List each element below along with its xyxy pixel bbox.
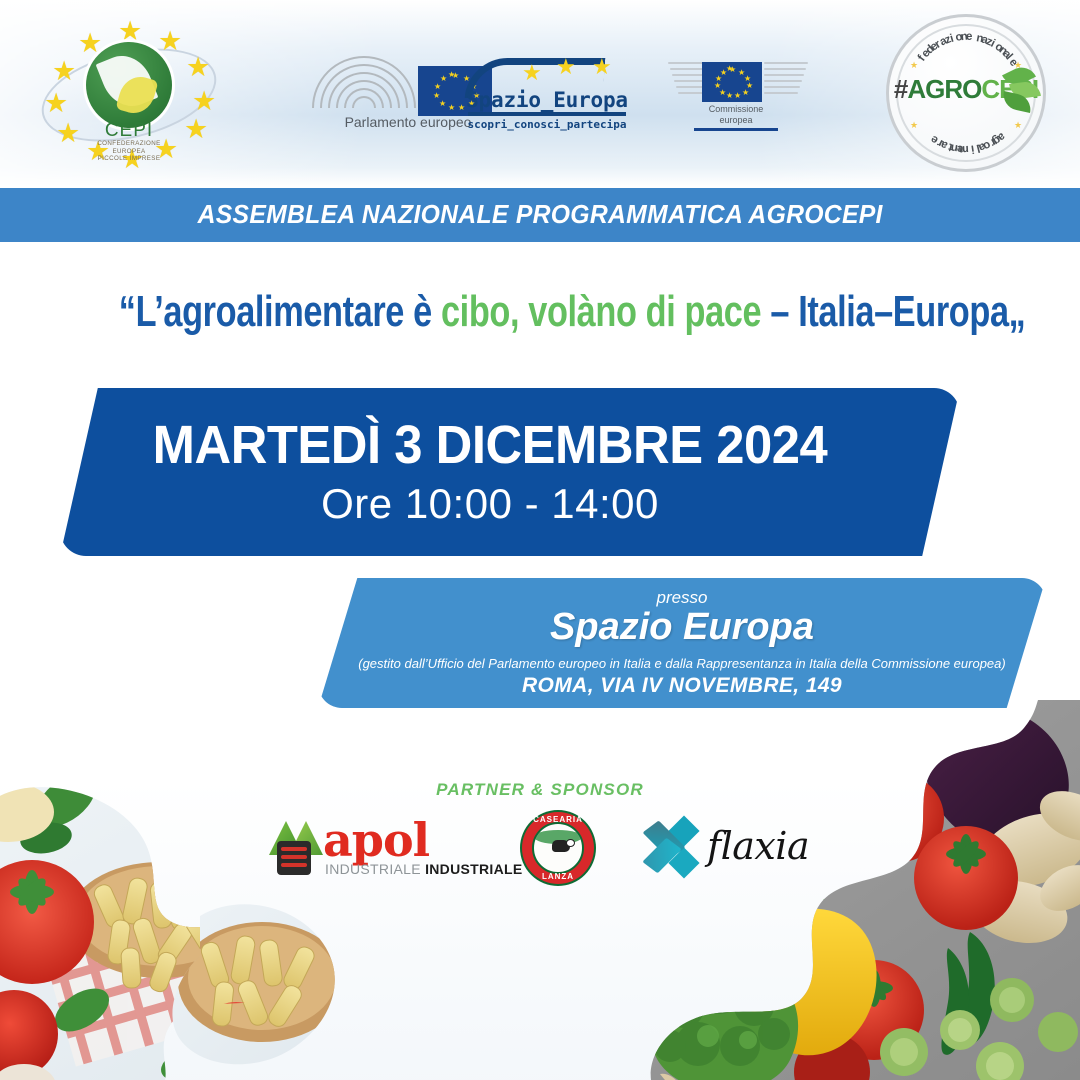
assembly-title-banner: ASSEMBLEA NAZIONALE PROGRAMMATICA AGROCE… [0, 188, 1080, 242]
logo-row: ★ ★ ★ ★ ★ ★ ★ ★ ★ ★ ★ ★ CEPI CONFEDERAZI… [0, 0, 1080, 186]
cepi-subtitle-line-2: EUROPEA [112, 148, 145, 155]
agrocepi-hash: # [894, 74, 907, 104]
commission-caption: Commissione europea [694, 104, 778, 126]
tagline-close-quote: „ [1009, 287, 1026, 336]
venue-name: Spazio Europa [318, 606, 1046, 649]
lanza-scene-icon [532, 822, 584, 874]
event-date: MARTEDÌ 3 DICEMBRE 2024 [86, 414, 894, 476]
flaxia-wordmark: flaxia [707, 824, 809, 868]
sponsor-logo-apol[interactable]: apol INDUSTRIALE INDUSTRIALE [265, 815, 473, 881]
event-venue-block: presso Spazio Europa (gestito dall’Uffic… [318, 578, 1046, 708]
apol-mark-icon [265, 819, 325, 875]
assembly-title: ASSEMBLEA NAZIONALE PROGRAMMATICA AGROCE… [197, 201, 882, 230]
sponsor-logo-flaxia[interactable]: flaxia [643, 816, 815, 880]
lanza-bottom-text: LANZA [522, 872, 594, 881]
spazio-tagline: scopri_conosci_partecipa [462, 118, 632, 131]
event-date-block: MARTEDÌ 3 DICEMBRE 2024 Ore 10:00 - 14:0… [60, 388, 960, 556]
spazio-europa-logo: ★ ★ ★ Spazio_Europa scopri_conosci_parte… [462, 52, 632, 138]
spazio-title: Spazio_Europa [462, 88, 632, 112]
flaxia-x-icon [643, 820, 701, 876]
tagline-open-quote: “ [119, 287, 136, 336]
cepi-subtitle-line-3: PICCOLE IMPRESE [98, 155, 161, 162]
lanza-top-text: CASEARIA [522, 815, 594, 824]
apol-subtitle: INDUSTRIALE INDUSTRIALE [325, 861, 522, 877]
sponsor-logos: apol INDUSTRIALE INDUSTRIALE CASEARIA LA… [265, 808, 815, 888]
commission-underline [694, 128, 778, 131]
agrocepi-logo: federazione nazionale agroalimentare ★ ★… [886, 14, 1046, 172]
tagline-part-1: L’agroalimentare è [136, 287, 441, 336]
tagline-part-3: – Italia–Europa [761, 287, 1008, 336]
event-poster: ★ ★ ★ ★ ★ ★ ★ ★ ★ ★ ★ ★ CEPI CONFEDERAZI… [0, 0, 1080, 1080]
apol-wordmark: apol [323, 813, 429, 867]
event-time: Ore 10:00 - 14:00 [60, 480, 920, 528]
cepi-subtitle-line-1: CONFEDERAZIONE [97, 140, 160, 147]
eu-flag-icon: ★ ★ ★ ★ ★ ★ ★ ★ ★ ★ ★ ★ [702, 62, 762, 102]
sponsor-logo-casearia-lanza[interactable]: CASEARIA LANZA [522, 812, 594, 884]
parliament-hemicycle-icon [308, 52, 420, 108]
spazio-divider [468, 112, 626, 116]
agrocepi-leaf-icon [1002, 66, 1044, 112]
spazio-stars-icon: ★ ★ ★ [522, 58, 632, 84]
event-tagline: “L’agroalimentare è cibo, volàno di pace… [119, 286, 961, 338]
agrocepi-agro: AGRO [907, 74, 981, 104]
cepi-globe-icon [86, 42, 172, 128]
european-commission-logo: ★ ★ ★ ★ ★ ★ ★ ★ ★ ★ ★ ★ Commissione euro… [668, 56, 818, 138]
partner-sponsor-label: PARTNER & SPONSOR [0, 780, 1080, 800]
apol-subtitle-grey: INDUSTRIALE [325, 861, 425, 877]
food-photo-right [534, 700, 1080, 1080]
cepi-title: CEPI [34, 120, 224, 142]
venue-preposition: presso [318, 588, 1046, 608]
apol-subtitle-black: INDUSTRIALE [425, 861, 522, 877]
venue-address: ROMA, VIA IV NOVEMBRE, 149 [318, 674, 1046, 698]
commission-fan-right-icon [764, 58, 810, 102]
cepi-logo: ★ ★ ★ ★ ★ ★ ★ ★ ★ ★ ★ ★ CEPI CONFEDERAZI… [34, 16, 224, 168]
tagline-part-2: cibo, volàno di pace [441, 287, 761, 336]
venue-managed-by: (gestito dall’Ufficio del Parlamento eur… [318, 656, 1046, 671]
cepi-subtitle: CONFEDERAZIONE EUROPEA PICCOLE IMPRESE [34, 140, 224, 163]
